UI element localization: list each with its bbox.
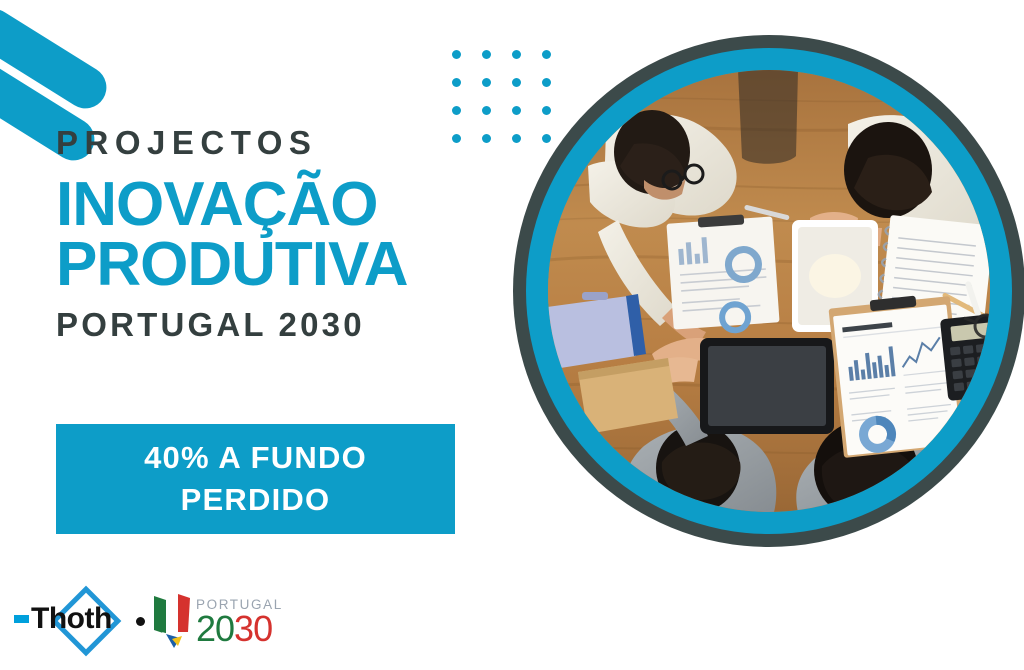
subtitle-text: PORTUGAL 2030 <box>56 308 476 341</box>
dot <box>452 78 461 87</box>
chevron-bars-decoration <box>0 0 146 122</box>
highlight-line-2: PERDIDO <box>181 481 331 520</box>
highlight-line-1: 40% A FUNDO <box>144 439 367 478</box>
eyebrow-text: PROJECTOS <box>56 126 476 159</box>
year-prefix: 20 <box>196 608 234 649</box>
black-tablet <box>700 338 834 434</box>
page-title: INOVAÇÃO PRODUTIVA <box>56 175 476 294</box>
headline-block: PROJECTOS INOVAÇÃO PRODUTIVA PORTUGAL 20… <box>56 126 476 341</box>
thoth-wordmark: Thoth <box>14 604 112 634</box>
year-2030-label: 2030 <box>196 612 283 646</box>
dot <box>452 106 461 115</box>
portugal-2030-wordmark: PORTUGAL 2030 <box>196 596 283 647</box>
title-line-1: INOVAÇÃO <box>56 175 476 235</box>
separator-dot-icon <box>136 617 145 626</box>
dot <box>452 50 461 59</box>
portugal-2030-logo: PORTUGAL 2030 <box>152 590 283 652</box>
dot <box>482 78 491 87</box>
thoth-logo-text: Thoth <box>31 604 112 634</box>
dot <box>482 106 491 115</box>
dot <box>482 50 491 59</box>
logo-row: Thoth PORTUGAL 2030 <box>12 578 283 664</box>
circular-photo <box>513 35 1024 547</box>
title-line-2: PRODUTIVA <box>56 235 476 295</box>
dash-icon <box>14 615 29 623</box>
clipboard-upper-left <box>666 204 789 331</box>
promotional-poster: PROJECTOS INOVAÇÃO PRODUTIVA PORTUGAL 20… <box>0 0 1024 670</box>
photo-image <box>548 70 990 512</box>
dot <box>482 134 491 143</box>
year-suffix: 30 <box>234 608 272 649</box>
portugal-flag-icon <box>152 592 192 650</box>
highlight-callout-box: 40% A FUNDO PERDIDO <box>56 424 455 534</box>
thoth-logo: Thoth <box>12 578 134 664</box>
